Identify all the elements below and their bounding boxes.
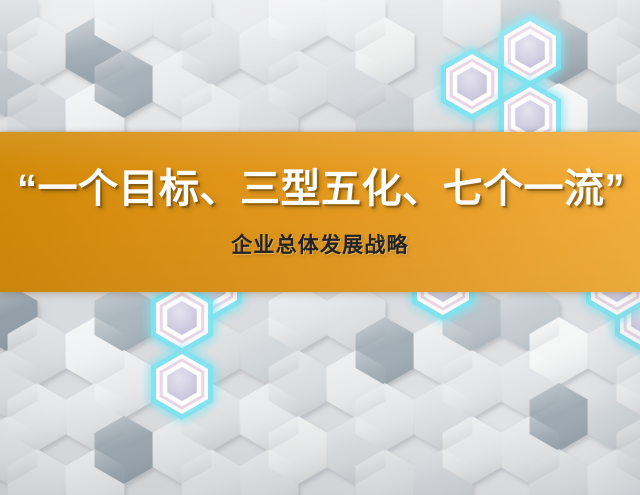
slide-subtitle: 企业总体发展战略 <box>231 235 409 256</box>
glow-hexagon <box>153 351 210 417</box>
glow-hexagon <box>153 285 210 351</box>
glow-hexagon <box>443 51 500 117</box>
slide-title: “一个目标、三型五化、七个一流” <box>17 169 625 209</box>
title-banner: “一个目标、三型五化、七个一流” 企业总体发展战略 <box>0 132 640 292</box>
slide-canvas: “一个目标、三型五化、七个一流” 企业总体发展战略 <box>0 0 640 495</box>
glow-hexagon <box>501 18 558 84</box>
